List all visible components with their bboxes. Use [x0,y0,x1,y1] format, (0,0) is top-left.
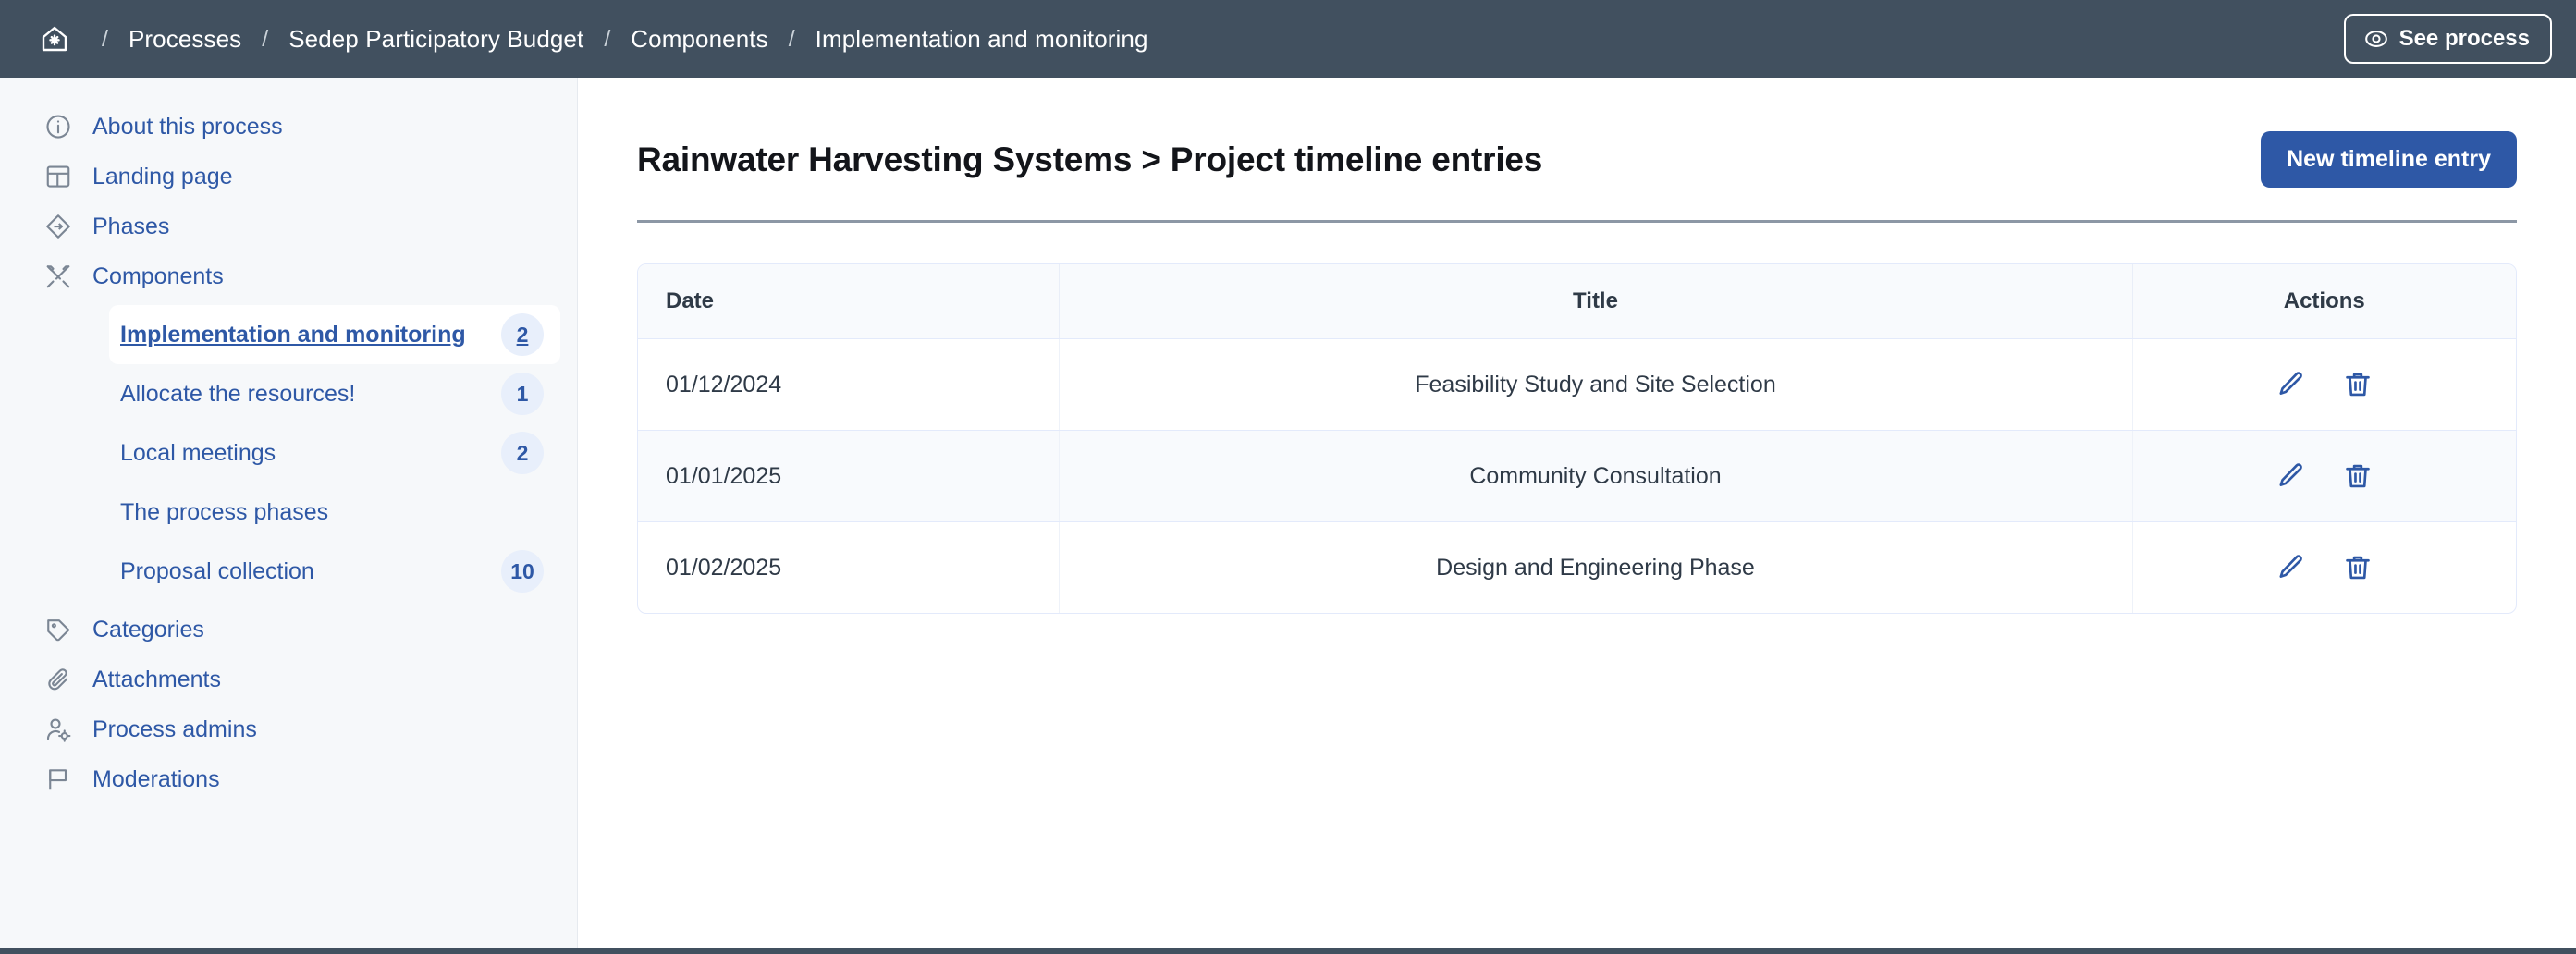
table-header-row: Date Title Actions [638,264,2516,339]
subnav-item-label: Allocate the resources! [120,381,355,408]
sidebar-item-label: Categories [92,617,204,643]
tools-icon [43,261,74,292]
cell-date: 01/02/2025 [638,522,1059,614]
sidebar-item-moderations[interactable]: Moderations [0,754,577,804]
sidebar-item-landing-page[interactable]: Landing page [0,152,577,202]
header-divider [637,220,2517,223]
top-bar: / Processes / Sedep Participatory Budget… [0,0,2576,78]
new-timeline-entry-button[interactable]: New timeline entry [2261,131,2517,188]
see-process-button[interactable]: See process [2344,14,2552,64]
table-row: 01/02/2025 Design and Engineering Phase [638,522,2516,614]
sidebar-item-label: Landing page [92,164,233,190]
sidebar-item-label: About this process [92,114,283,141]
table-row: 01/01/2025 Community Consultation [638,431,2516,522]
subnav-item-label: Implementation and monitoring [120,322,466,349]
cell-date: 01/12/2024 [638,339,1059,431]
column-header-date: Date [638,264,1059,339]
page-title: Rainwater Harvesting Systems > Project t… [637,141,1542,179]
page-shell: About this process Landing page Phases [0,78,2576,954]
breadcrumb-separator-1: / [241,26,288,53]
paperclip-icon [43,664,74,695]
pencil-icon [2276,461,2306,491]
cell-title: Design and Engineering Phase [1059,522,2132,614]
cell-actions [2132,339,2516,431]
components-subnav: Implementation and monitoring 2 Allocate… [0,301,577,605]
subnav-item-label: Proposal collection [120,558,314,585]
sidebar-item-the-process-phases[interactable]: The process phases [109,483,560,542]
cell-title: Community Consultation [1059,431,2132,522]
delete-entry-button[interactable] [2340,550,2375,585]
edit-entry-button[interactable] [2274,367,2309,402]
sidebar: About this process Landing page Phases [0,78,578,948]
sidebar-item-process-admins[interactable]: Process admins [0,704,577,754]
edit-entry-button[interactable] [2274,550,2309,585]
info-circle-icon [43,111,74,142]
sidebar-item-implementation-and-monitoring[interactable]: Implementation and monitoring 2 [109,305,560,364]
delete-entry-button[interactable] [2340,367,2375,402]
timeline-entries-table: Date Title Actions 01/12/2024 Feasibilit… [637,263,2517,614]
diamond-arrow-icon [43,211,74,242]
breadcrumb: / Processes / Sedep Participatory Budget… [37,21,2344,56]
subnav-item-count-badge: 2 [501,313,544,356]
table-row: 01/12/2024 Feasibility Study and Site Se… [638,339,2516,431]
trash-icon [2343,553,2373,582]
cell-title: Feasibility Study and Site Selection [1059,339,2132,431]
main-content: Rainwater Harvesting Systems > Project t… [578,78,2576,948]
sidebar-item-label: Components [92,263,224,290]
breadcrumb-link-components[interactable]: Components [631,25,767,54]
sidebar-item-label: Phases [92,214,169,240]
sidebar-item-components[interactable]: Components [0,251,577,301]
subnav-item-label: Local meetings [120,440,276,467]
trash-icon [2343,370,2373,399]
sidebar-item-allocate-the-resources[interactable]: Allocate the resources! 1 [109,364,560,423]
breadcrumb-link-implementation-and-monitoring[interactable]: Implementation and monitoring [816,25,1148,54]
see-process-label: See process [2399,26,2530,52]
column-header-title: Title [1059,264,2132,339]
main-header: Rainwater Harvesting Systems > Project t… [637,131,2517,188]
sidebar-item-attachments[interactable]: Attachments [0,654,577,704]
sidebar-item-categories[interactable]: Categories [0,605,577,654]
tag-icon [43,614,74,645]
subnav-item-count-badge: 2 [501,432,544,474]
sidebar-item-about-this-process[interactable]: About this process [0,102,577,152]
subnav-item-count-badge: 1 [501,373,544,415]
breadcrumb-link-processes[interactable]: Processes [129,25,241,54]
cell-actions [2132,431,2516,522]
subnav-item-label: The process phases [120,499,328,526]
breadcrumb-link-participatory-budget[interactable]: Sedep Participatory Budget [288,25,583,54]
trash-icon [2343,461,2373,491]
layout-grid-icon [43,161,74,192]
breadcrumb-separator-0: / [81,26,129,53]
home-gear-icon[interactable] [37,21,72,56]
sidebar-item-phases[interactable]: Phases [0,202,577,251]
edit-entry-button[interactable] [2274,459,2309,494]
sidebar-item-local-meetings[interactable]: Local meetings 2 [109,423,560,483]
delete-entry-button[interactable] [2340,459,2375,494]
sidebar-item-label: Process admins [92,716,257,743]
sidebar-item-label: Moderations [92,766,220,793]
pencil-icon [2276,370,2306,399]
sidebar-item-label: Attachments [92,667,221,693]
column-header-actions: Actions [2132,264,2516,339]
cell-date: 01/01/2025 [638,431,1059,522]
user-gear-icon [43,714,74,745]
breadcrumb-separator-3: / [768,26,816,53]
eye-icon [2364,27,2388,51]
cell-actions [2132,522,2516,614]
breadcrumb-separator-2: / [583,26,631,53]
subnav-item-count-badge: 10 [501,550,544,593]
sidebar-item-proposal-collection[interactable]: Proposal collection 10 [109,542,560,601]
flag-icon [43,764,74,795]
pencil-icon [2276,553,2306,582]
